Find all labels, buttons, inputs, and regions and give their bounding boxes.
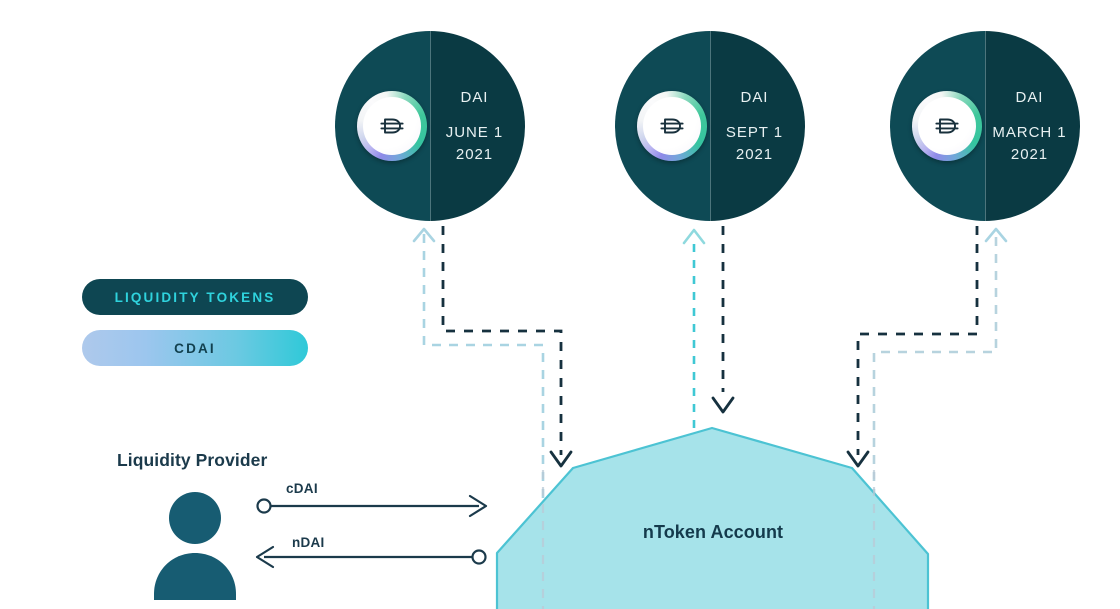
ntoken-account-label: nToken Account bbox=[568, 522, 858, 543]
person-icon bbox=[154, 492, 236, 600]
flow-cdai-arrow bbox=[258, 496, 487, 516]
diagram-canvas: DAI JUNE 1 2021 DAI SEPT 1 2021 bbox=[0, 0, 1120, 609]
flow-ndai-arrow bbox=[257, 547, 486, 567]
liquidity-provider-layer bbox=[0, 0, 1120, 609]
flow-label-cdai: cDAI bbox=[286, 481, 318, 496]
flow-label-ndai: nDAI bbox=[292, 535, 325, 550]
